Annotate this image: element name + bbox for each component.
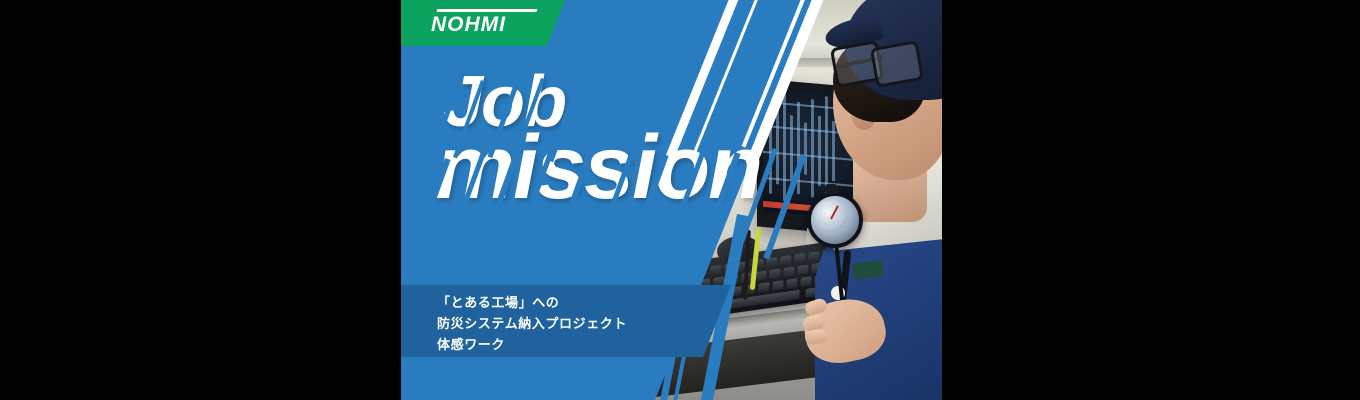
brand-banner[interactable]: NOHMI [401, 0, 571, 46]
subtitle-text: 「とある工場」への 防災システム納入プロジェクト 体感ワーク [437, 293, 627, 356]
logo-wordmark: NOHMI [431, 14, 537, 35]
photo-stopwatch-crown [825, 184, 837, 194]
logo-overline-icon [437, 9, 538, 12]
nohmi-logo[interactable]: NOHMI [431, 9, 537, 35]
job-mission-banner[interactable]: NOHMI Job mission [401, 0, 942, 400]
screenshot-stage: NOHMI Job mission [0, 0, 1360, 400]
photo-glasses-lens [870, 40, 924, 88]
